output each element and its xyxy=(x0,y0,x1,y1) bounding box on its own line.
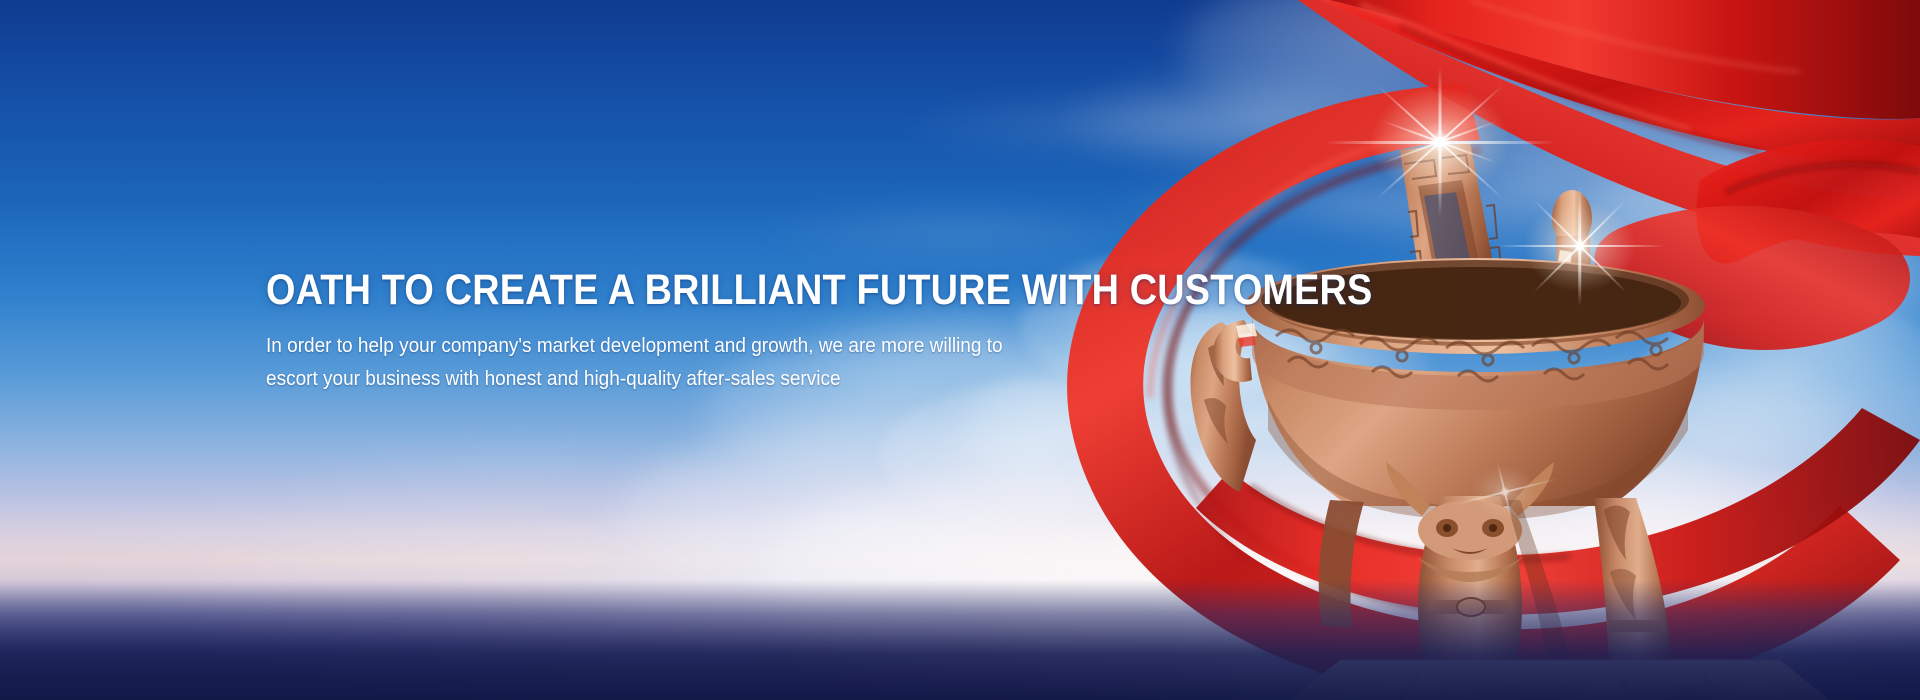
banner-subcopy: In order to help your company's market d… xyxy=(266,330,1026,396)
banner-headline: OATH TO CREATE A BRILLIANT FUTURE WITH C… xyxy=(266,268,988,313)
banner-copy: OATH TO CREATE A BRILLIANT FUTURE WITH C… xyxy=(266,268,1086,396)
hero-banner: OATH TO CREATE A BRILLIANT FUTURE WITH C… xyxy=(0,0,1920,700)
